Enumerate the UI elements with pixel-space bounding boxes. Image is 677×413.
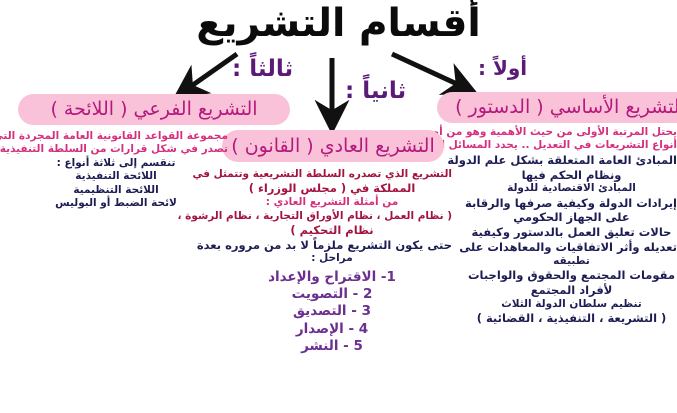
body-line: تنظيم سلطان الدولة الثلاث	[466, 298, 677, 311]
body-line: نظام التحكيم )	[212, 223, 452, 238]
body-line: يحتل المرتبة الأولى من حيث الأهمية وهو م…	[466, 126, 677, 139]
body-line: تصدر في شكل قرارات من السلطة التنفيذية	[4, 143, 228, 156]
body-line: تنقسم إلى ثلاثة أنواع :	[4, 157, 228, 170]
body-line: ونظام الحكم فيها	[466, 168, 677, 183]
body-line: من أمثلة التشريع العادي :	[212, 196, 452, 209]
diagram-canvas: أقسام التشريع أولاً : التشريع الأساسي ( …	[0, 0, 677, 413]
body-line: مراحل :	[212, 252, 452, 265]
branch-body-first: يحتل المرتبة الأولى من حيث الأهمية وهو م…	[466, 126, 677, 326]
body-line: مقومات المجتمع والحقوق والواجبات	[466, 268, 677, 283]
ordinal-first: أولاً :	[478, 56, 527, 80]
body-line: لائحة الضبط أو البوليس	[4, 197, 228, 210]
body-line: المبادئ العامة المتعلقة بشكل علم الدولة	[466, 153, 677, 168]
heading-pill-second[interactable]: التشريع العادي ( القانون )	[222, 130, 444, 162]
body-line: ( التشريعة ، التنفيذية ، القضائية )	[466, 311, 677, 326]
ordinal-third: ثالثاً :	[232, 56, 293, 82]
branch-body-third: مجموعة القواعد القانونية العامة المجردة …	[4, 130, 228, 211]
body-line: ( نظام العمل ، نظام الأوراق التجارية ، ن…	[212, 210, 452, 223]
body-line: اللائحة التنفيذية	[4, 170, 228, 183]
body-line: المملكة في ( مجلس الوزراء )	[212, 181, 452, 196]
heading-pill-third[interactable]: التشريع الفرعي ( اللائحة )	[18, 94, 290, 125]
branch-body-second: التشريع الذي تصدره السلطة التشريعية وتتم…	[212, 168, 452, 355]
heading-pill-first[interactable]: التشريع الأساسي ( الدستور )	[437, 92, 677, 123]
arrow-to-third-icon	[180, 54, 237, 94]
body-line: التشريع الذي تصدره السلطة التشريعية وتتم…	[212, 168, 452, 181]
stage-item: 5 - النشر	[212, 338, 452, 355]
ordinal-second: ثانياً :	[345, 78, 406, 104]
body-line: مجموعة القواعد القانونية العامة المجردة …	[4, 130, 228, 143]
body-line: حالات تعليق العمل بالدستور وكيفية	[466, 225, 677, 240]
stage-item: 4 - الإصدار	[212, 321, 452, 338]
body-line: تعديله وأثر الاتفاقيات والمعاهدات على	[466, 240, 677, 255]
body-line: تطبيقه	[466, 255, 677, 268]
body-line: أنواع التشريعات في التعديل .. يحدد المسا…	[466, 139, 677, 152]
body-line: على الجهاز الحكومي	[466, 210, 677, 225]
page-title: أقسام التشريع	[0, 2, 677, 47]
body-line: لأفراد المجتمع	[466, 283, 677, 298]
body-line: المبادئ الاقتصادية للدولة	[466, 182, 677, 195]
body-line: حتى يكون التشريع ملزماً لا بد من مروره ب…	[212, 238, 452, 253]
stage-item: 3 - التصديق	[212, 303, 452, 320]
body-line: اللائحة التنظيمية	[4, 184, 228, 197]
stage-item: 1- الاقتراح والإعداد	[212, 269, 452, 286]
stage-item: 2 - التصويت	[212, 286, 452, 303]
body-line: إيرادات الدولة وكيفية صرفها والرقابة	[466, 196, 677, 211]
